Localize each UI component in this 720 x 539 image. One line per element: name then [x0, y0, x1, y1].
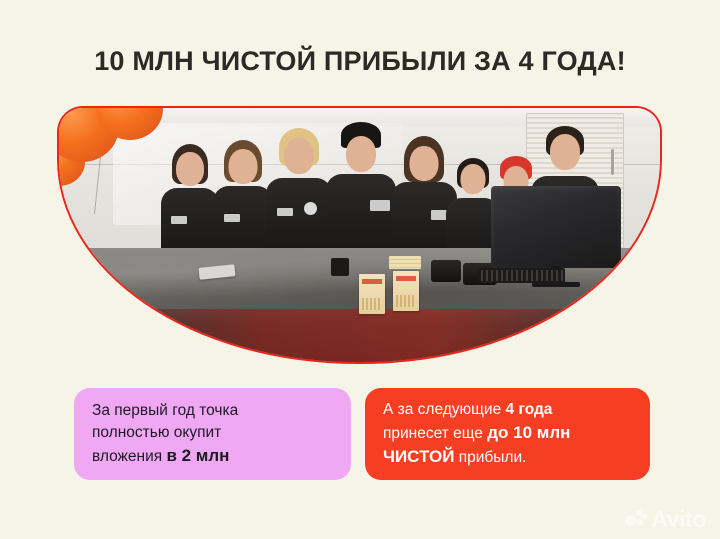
- red-line-2-bold: до 10 млн: [487, 423, 570, 442]
- phone-holder: [331, 258, 349, 276]
- hero-photo-frame: [57, 106, 662, 364]
- cash-stack: [389, 256, 421, 269]
- leaflet: [393, 271, 419, 311]
- page-title: 10 МЛН ЧИСТОЙ ПРИБЫЛИ ЗА 4 ГОДА!: [0, 47, 720, 77]
- face: [461, 164, 486, 194]
- name-tag: [224, 214, 240, 222]
- pink-line-1: За первый год точка: [92, 402, 238, 419]
- keyboard: [479, 268, 565, 283]
- red-line-2-normal: принесет еще: [383, 425, 487, 442]
- callout-pink-text: За первый год точка полностью окупит вло…: [74, 400, 256, 468]
- red-line-1-normal: А за следующие: [383, 401, 506, 418]
- pink-line-3-bold: в 2 млн: [166, 446, 229, 465]
- pink-line-2: полностью окупит: [92, 424, 221, 441]
- poster-root: 10 МЛН ЧИСТОЙ ПРИБЫЛИ ЗА 4 ГОДА!: [0, 0, 720, 539]
- name-tag: [171, 216, 187, 224]
- red-line-3-bold: ЧИСТОЙ: [383, 447, 454, 466]
- counter-front-panel: [59, 309, 660, 362]
- computer-monitor: [491, 186, 621, 268]
- card-terminal: [431, 260, 461, 282]
- hero-photo: [57, 106, 662, 364]
- callout-red: А за следующие 4 года принесет еще до 10…: [365, 388, 650, 480]
- company-logo-badge: [304, 202, 317, 215]
- face: [410, 146, 439, 181]
- pink-line-3-normal: вложения: [92, 448, 166, 465]
- callout-pink: За первый год точка полностью окупит вло…: [74, 388, 351, 480]
- photo-scene: [59, 108, 660, 362]
- face: [550, 134, 580, 170]
- avito-brand-text: Avito: [651, 508, 706, 531]
- red-line-3-normal: прибыли.: [454, 449, 526, 466]
- face: [229, 149, 258, 184]
- name-tag: [370, 200, 390, 211]
- callout-red-text: А за следующие 4 года принесет еще до 10…: [365, 399, 588, 469]
- face: [346, 136, 376, 172]
- red-line-1-bold: 4 года: [506, 401, 553, 418]
- face: [284, 138, 314, 174]
- leaflet: [359, 274, 385, 314]
- avito-watermark: Avito: [625, 508, 706, 531]
- face: [176, 152, 204, 186]
- avito-logo-icon: [625, 510, 647, 530]
- name-tag: [277, 208, 293, 216]
